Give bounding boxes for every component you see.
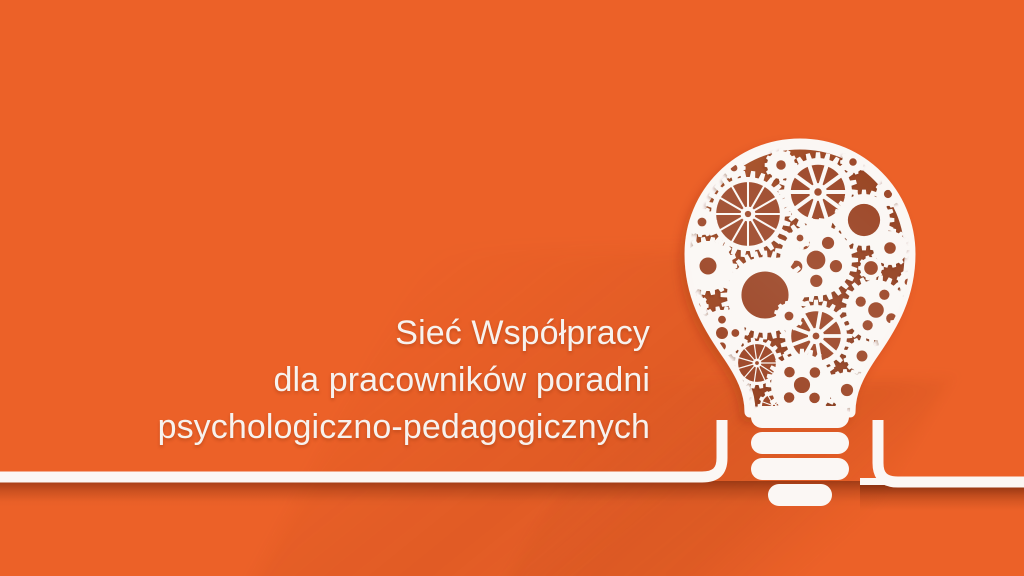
title-line-2: dla pracowników poradni bbox=[130, 357, 650, 404]
lightbulb-icon bbox=[650, 120, 950, 520]
base-ring-1 bbox=[751, 406, 849, 428]
slide-canvas: Sieć Współpracy dla pracowników poradni … bbox=[0, 0, 1024, 576]
title-line-1: Sieć Współpracy bbox=[130, 310, 650, 357]
base-ring-3 bbox=[751, 458, 849, 480]
bulb-base bbox=[751, 406, 849, 506]
page-title: Sieć Współpracy dla pracowników poradni … bbox=[130, 310, 650, 451]
title-line-3: psychologiczno-pedagogicznych bbox=[130, 404, 650, 451]
gear bbox=[858, 397, 884, 422]
lightbulb-graphic bbox=[650, 120, 950, 520]
gear bbox=[696, 358, 717, 379]
base-contact bbox=[768, 484, 832, 506]
base-ring-2 bbox=[751, 432, 849, 454]
